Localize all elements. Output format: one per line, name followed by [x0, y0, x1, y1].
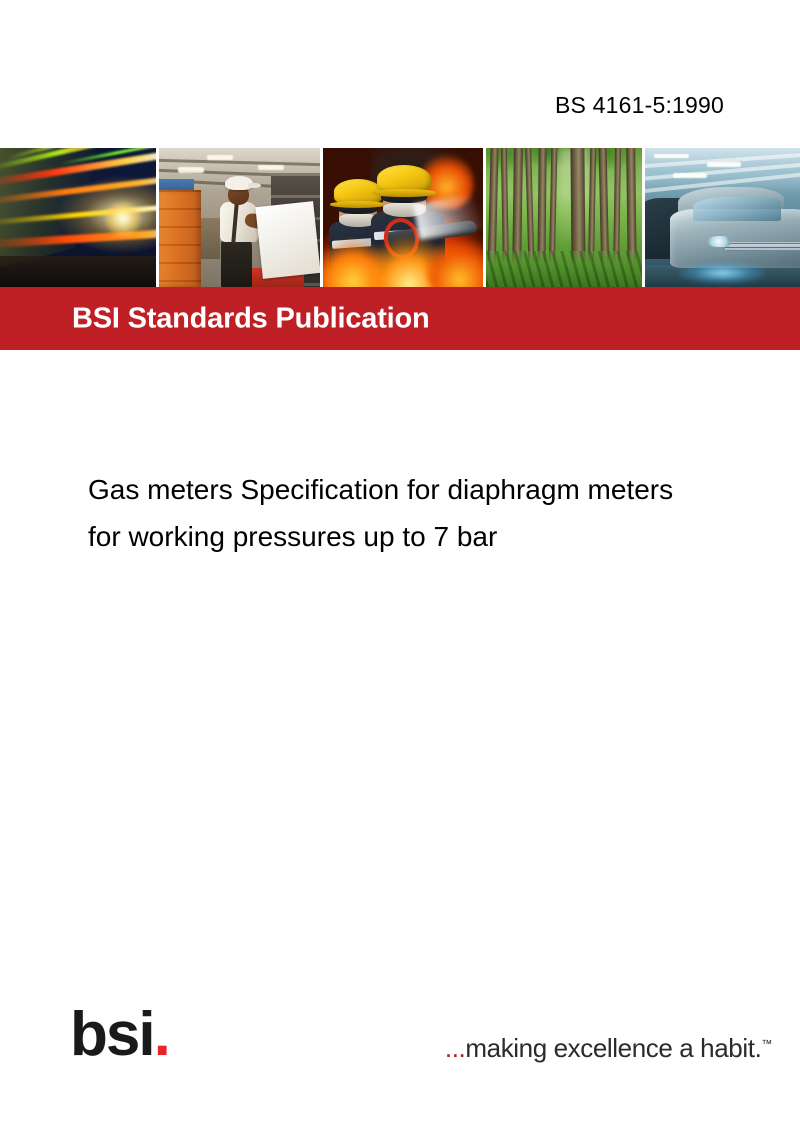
car-grille — [724, 242, 800, 252]
car-windshield — [693, 197, 781, 221]
bsi-logo-wordmark: bsi. — [70, 1000, 200, 1070]
cover-photo-strip — [0, 148, 800, 287]
trademark-icon: ™ — [761, 1038, 772, 1050]
title-line-1: Gas meters Specification for diaphragm m… — [88, 466, 788, 513]
car-headlight — [707, 236, 730, 246]
factory-lamp-2 — [707, 162, 741, 167]
photo-panel-car-assembly-line — [645, 148, 800, 287]
title-line-2: for working pressures up to 7 bar — [88, 513, 788, 560]
bsi-tagline: ...making excellence a habit.™ — [445, 1033, 772, 1064]
tagline-leading-ellipsis: ... — [445, 1033, 465, 1063]
factory-lamp-3 — [673, 173, 707, 178]
ceiling-light-1 — [207, 155, 233, 161]
document-title: Gas meters Specification for diaphragm m… — [88, 466, 788, 560]
worker-trousers — [221, 239, 252, 287]
worker-cap — [225, 176, 253, 190]
photo-panel-night-traffic-light-trails — [0, 148, 156, 287]
firefighter-right-helmet — [377, 165, 432, 192]
photo-panel-warehouse-worker — [159, 148, 320, 287]
road-surface — [0, 256, 156, 287]
foreground-car — [670, 187, 800, 268]
tagline-words: making excellence a habit — [465, 1033, 754, 1063]
banner-label: BSI Standards Publication — [72, 302, 430, 335]
bsi-logo-red-dot: . — [154, 1000, 169, 1069]
bsi-standards-publication-banner: BSI Standards Publication — [0, 287, 800, 350]
inspection-underglow — [679, 262, 766, 284]
factory-lamp-1 — [654, 154, 688, 159]
bsi-logo: bsi. — [70, 1000, 200, 1070]
ceiling-light-3 — [178, 167, 204, 173]
photo-panel-firefighters — [323, 148, 484, 287]
forest-floor — [486, 251, 642, 287]
headlight-glow — [103, 201, 144, 237]
photo-panel-forest — [486, 148, 642, 287]
orange-crate-stack — [159, 190, 201, 287]
stacked-paper — [255, 201, 320, 279]
ceiling-light-2 — [258, 165, 284, 171]
bsi-logo-letters: bsi — [70, 1000, 154, 1069]
standard-number: BS 4161-5:1990 — [555, 92, 724, 119]
